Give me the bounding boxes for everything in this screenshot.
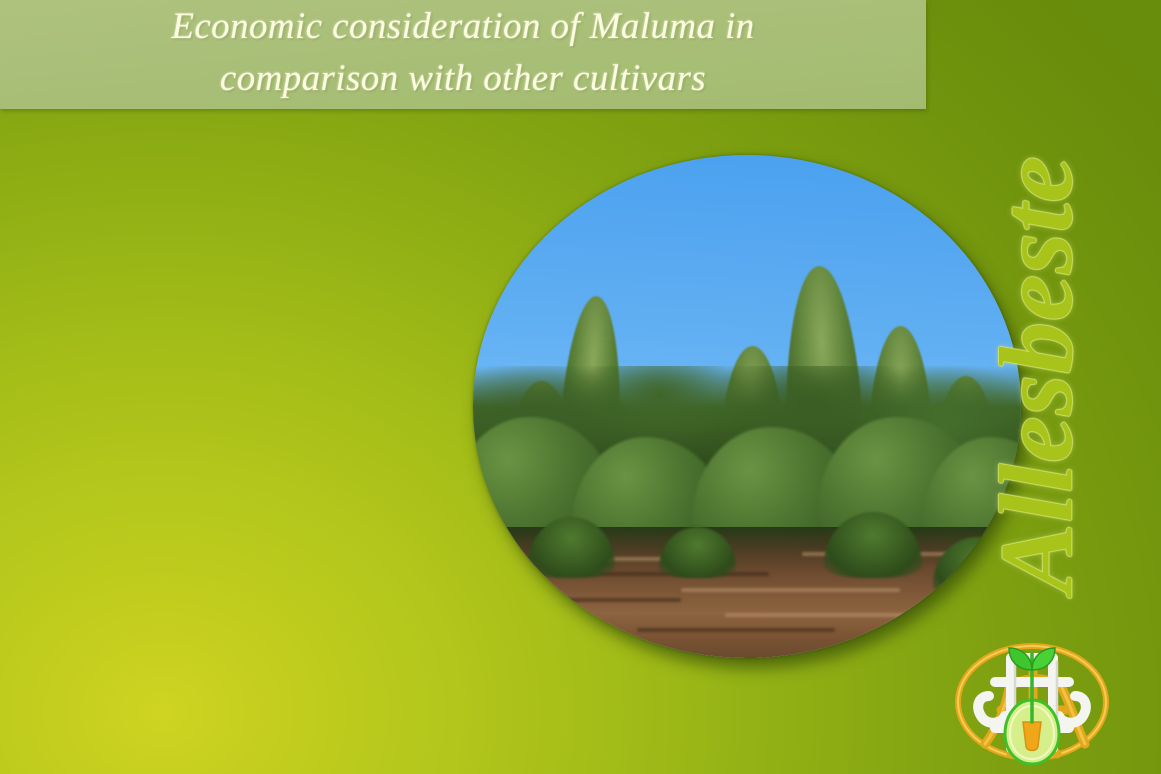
slide-canvas: Economic consideration of Maluma in comp… bbox=[0, 0, 1161, 774]
photo-mulch bbox=[517, 598, 681, 602]
allesbeste-monogram-logo bbox=[949, 636, 1115, 774]
avocado-pit bbox=[1023, 722, 1041, 751]
photo-mulch bbox=[725, 613, 955, 617]
photo-mulch bbox=[637, 628, 834, 632]
photo-mulch bbox=[681, 588, 900, 592]
avocado-orchard-photo bbox=[473, 155, 1021, 658]
title-banner: Economic consideration of Maluma in comp… bbox=[0, 0, 926, 109]
page-title: Economic consideration of Maluma in comp… bbox=[0, 1, 926, 107]
logo-svg bbox=[949, 636, 1115, 774]
